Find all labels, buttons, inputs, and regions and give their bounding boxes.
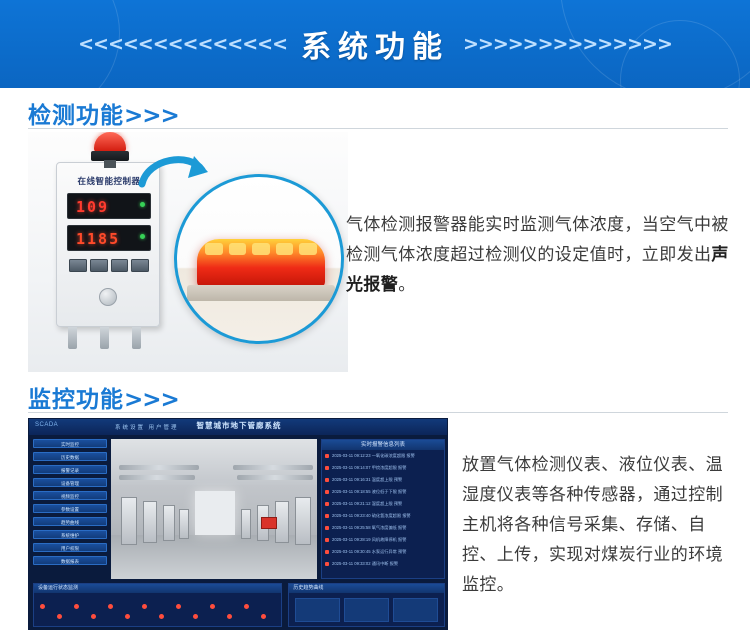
scada-nav-button[interactable]: 报警记录 [33, 465, 107, 474]
controller-button [69, 259, 87, 272]
scada-nav-button[interactable]: 用户权限 [33, 543, 107, 552]
scada-alarm-log-text: 2025-03-11 09:25:58 氧气浓度偏低 报警 [332, 525, 406, 531]
section-title-monitoring-text: 监控功能 [28, 386, 124, 412]
device-status-dot [261, 614, 266, 619]
scada-alarm-log-text: 2025-03-11 09:23:40 硫化氢浓度超限 报警 [332, 513, 411, 519]
trend-bar [295, 598, 340, 622]
alarm-dot-icon [325, 538, 329, 542]
scada-bottom-panel: 历史趋势曲线 [288, 583, 445, 627]
scada-nav-button[interactable]: 趋势曲线 [33, 517, 107, 526]
device-status-dot [210, 604, 215, 609]
alarm-dot-icon [325, 562, 329, 566]
section-divider [28, 412, 728, 413]
section-divider [28, 128, 728, 129]
tunnel-pipe [119, 465, 199, 470]
tunnel-vanishing-point [195, 491, 235, 535]
beacon-rib [299, 243, 317, 255]
scada-alarm-log-row: 2025-03-11 09:16:31 温度超上限 预警 [325, 478, 441, 482]
scada-nav-button[interactable]: 参数设置 [33, 504, 107, 513]
page-header-banner: <<<<<<<<<<<<<< 系统功能 >>>>>>>>>>>>>> [0, 0, 750, 88]
scada-alarm-log-text: 2025-03-11 09:28:19 风机故障停机 报警 [332, 537, 406, 543]
alarm-dot-icon [325, 550, 329, 554]
scada-alarm-log-text: 2025-03-11 09:16:31 温度超上限 预警 [332, 477, 402, 483]
scada-alarm-log-row: 2025-03-11 09:28:19 风机故障停机 报警 [325, 538, 441, 542]
controller-display-bottom: 1185 [67, 225, 151, 251]
device-status-dot [159, 614, 164, 619]
scada-alarm-log-row: 2025-03-11 09:33:02 通讯中断 报警 [325, 562, 441, 566]
detection-paragraph: 气体检测报警器能实时监测气体浓度，当空气中被检测气体浓度超过检测仪的设定值时，立… [346, 210, 730, 300]
scada-monitoring-screenshot: SCADA 系统设置 用户管理 智慧城市地下管廊系统 实时监控历史数据报警记录设… [28, 418, 448, 630]
alarm-dot-icon [325, 502, 329, 506]
scada-alarm-log-text: 2025-03-11 09:18:55 液位低于下限 报警 [332, 489, 406, 495]
device-status-dot [176, 604, 181, 609]
device-status-dot [74, 604, 79, 609]
device-status-dot [244, 604, 249, 609]
scada-alarm-log-text: 2025-03-11 09:30:45 水泵运行异常 预警 [332, 549, 406, 555]
device-status-dot [227, 614, 232, 619]
scada-alarm-log-row: 2025-03-11 09:14:07 甲烷浓度超限 报警 [325, 466, 441, 470]
scada-bottom-panel: 设备运行状态监测 [33, 583, 282, 627]
controller-button [90, 259, 108, 272]
status-led-icon [140, 202, 145, 207]
device-status-dot [193, 614, 198, 619]
trend-bar [344, 598, 389, 622]
scada-alarm-log-row: 2025-03-11 09:23:40 硫化氢浓度超限 报警 [325, 514, 441, 518]
section-title-monitoring: 监控功能>>> [28, 380, 179, 414]
tunnel-cabinet [143, 501, 157, 543]
scada-alarm-log-row: 2025-03-11 09:12:23 一氧化碳浓度超限 报警 [325, 454, 441, 458]
controller-button-row [69, 259, 149, 272]
device-status-dot [108, 604, 113, 609]
controller-mount-feet [62, 327, 154, 349]
trend-bar [393, 598, 438, 622]
scada-nav-button[interactable]: 实时监控 [33, 439, 107, 448]
monitoring-section: SCADA 系统设置 用户管理 智慧城市地下管廊系统 实时监控历史数据报警记录设… [0, 418, 750, 630]
scada-nav-button[interactable]: 历史数据 [33, 452, 107, 461]
device-status-dot [142, 604, 147, 609]
tunnel-pipe [119, 475, 195, 480]
section-title-detection: 检测功能>>> [28, 96, 179, 130]
scada-nav-button[interactable]: 数据报表 [33, 556, 107, 565]
beacon-dome-icon [94, 132, 126, 152]
scada-3d-tunnel-view [111, 439, 317, 579]
scada-alarm-log-panel: 实时报警信息列表 2025-03-11 09:12:23 一氧化碳浓度超限 报警… [321, 439, 445, 579]
scada-alarm-log-row: 2025-03-11 09:30:45 水泵运行异常 预警 [325, 550, 441, 554]
scada-nav-button[interactable]: 系统维护 [33, 530, 107, 539]
monitoring-paragraph: 放置气体检测仪表、液位仪表、温湿度仪表等各种传感器，通过控制主机将各种信号采集、… [462, 450, 724, 600]
beacon-rib [276, 243, 294, 255]
controller-knob [99, 288, 117, 306]
scada-alarm-log-row: 2025-03-11 09:25:58 氧气浓度偏低 报警 [325, 526, 441, 530]
magnified-beacon-view [174, 174, 344, 344]
detection-paragraph-emphasis: 声光报警 [346, 245, 729, 294]
magnified-beacon-base [187, 285, 335, 301]
alarm-dot-icon [325, 490, 329, 494]
device-status-dot [125, 614, 130, 619]
mount-foot [100, 327, 109, 349]
scada-alarm-log-text: 2025-03-11 09:12:23 一氧化碳浓度超限 报警 [332, 453, 415, 459]
section-title-arrows-icon: >>> [124, 387, 179, 413]
section-title-detection-text: 检测功能 [28, 102, 124, 128]
scada-alarm-log-title: 实时报警信息列表 [322, 440, 444, 450]
controller-display-bottom-value: 1185 [76, 230, 120, 248]
alarm-dot-icon [325, 454, 329, 458]
tunnel-cabinet [179, 509, 189, 539]
tunnel-cabinet [163, 505, 175, 541]
detection-section: 在线智能控制器 109 1185 [0, 132, 750, 372]
gas-alarm-controller-photo: 在线智能控制器 109 1185 [28, 132, 348, 372]
scada-bottom-panels: 设备运行状态监测 历史趋势曲线 [33, 583, 445, 627]
scada-alarm-log-row: 2025-03-11 09:21:12 湿度超上限 预警 [325, 502, 441, 506]
scada-nav-button[interactable]: 设备管理 [33, 478, 107, 487]
beacon-stem [104, 160, 116, 168]
chevrons-left-icon: <<<<<<<<<<<<<< [78, 33, 287, 55]
alarm-beacon [90, 132, 130, 166]
tunnel-alarm-box [261, 517, 277, 529]
tunnel-cabinet [241, 509, 251, 539]
scada-alarm-log-text: 2025-03-11 09:33:02 通讯中断 报警 [332, 561, 398, 567]
mount-foot [132, 327, 141, 349]
scada-nav-button[interactable]: 视频监控 [33, 491, 107, 500]
magnified-beacon-ribs [205, 243, 317, 255]
alarm-dot-icon [325, 514, 329, 518]
alarm-dot-icon [325, 526, 329, 530]
scada-bottom-panel-title: 设备运行状态监测 [34, 584, 281, 593]
chevrons-right-icon: >>>>>>>>>>>>>> [463, 33, 672, 55]
scada-trend-bars [295, 598, 438, 622]
scada-bottom-panel-title: 历史趋势曲线 [289, 584, 444, 593]
scada-device-status-dots [40, 600, 275, 622]
zoom-arrow-icon [138, 150, 210, 198]
controller-button [111, 259, 129, 272]
scada-left-nav: 实时监控历史数据报警记录设备管理视频监控参数设置趋势曲线系统维护用户权限数据报表 [33, 439, 107, 579]
device-status-dot [40, 604, 45, 609]
device-status-dot [57, 614, 62, 619]
section-title-arrows-icon: >>> [124, 103, 179, 129]
scada-screen-title: 智慧城市地下管廊系统 [29, 420, 448, 431]
mount-foot [68, 327, 77, 349]
scada-alarm-log-text: 2025-03-11 09:14:07 甲烷浓度超限 报警 [332, 465, 406, 471]
scada-alarm-log-row: 2025-03-11 09:18:55 液位低于下限 报警 [325, 490, 441, 494]
tunnel-cabinet [295, 497, 311, 545]
beacon-rib [229, 243, 247, 255]
scada-alarm-log-text: 2025-03-11 09:21:12 湿度超上限 预警 [332, 501, 402, 507]
beacon-rib [252, 243, 270, 255]
controller-button [131, 259, 149, 272]
beacon-rib [205, 243, 223, 255]
controller-display-top-value: 109 [76, 198, 109, 216]
status-led-icon [140, 234, 145, 239]
tunnel-pipe [237, 475, 313, 480]
page-title: 系统功能 [301, 22, 449, 66]
tunnel-pipe [233, 465, 313, 470]
alarm-dot-icon [325, 466, 329, 470]
tunnel-cabinet [275, 501, 289, 543]
device-status-dot [91, 614, 96, 619]
alarm-dot-icon [325, 478, 329, 482]
tunnel-cabinet [121, 497, 137, 545]
